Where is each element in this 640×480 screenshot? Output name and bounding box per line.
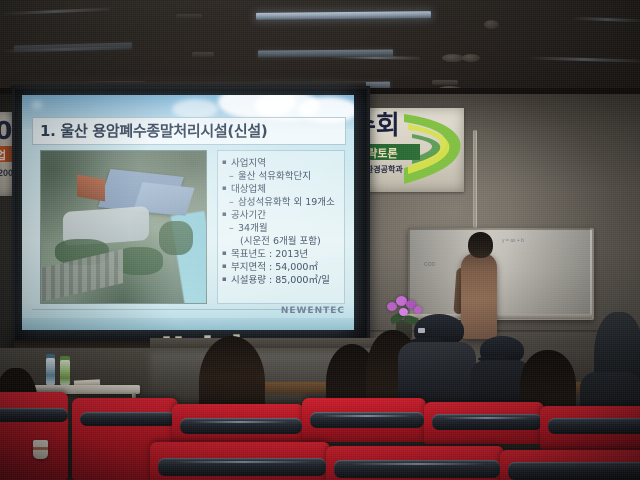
seat-top-rail <box>508 462 640 480</box>
list-item: 목표년도 : 2013년 <box>218 248 342 261</box>
ceiling-speaker-icon <box>442 54 464 62</box>
slide-vendor-logo: NEWENTEC <box>281 306 345 316</box>
slide-bottom-band <box>22 318 354 330</box>
list-item: 34개월 <box>218 222 342 235</box>
list-item: (시운전 6개월 포함) <box>218 235 342 248</box>
seat-top-rail <box>0 408 68 422</box>
presenter-body <box>461 253 497 339</box>
list-item: 삼성석유화학 외 19개소 <box>218 196 342 209</box>
slide-bullet-list: 사업지역 울산 석유화학단지 대상업체 삼성석유화학 외 19개소 공사기간 3… <box>217 150 345 304</box>
projected-slide: 1. 울산 용암폐수종말처리시설(신설) 사업지역 울산 석유화학단지 대상업체… <box>22 95 354 330</box>
auditorium-seat <box>0 392 68 480</box>
orchid-bloom <box>399 308 408 316</box>
whiteboard-shadow <box>408 228 590 316</box>
ceiling-speaker-icon <box>462 54 480 62</box>
ceiling-light-fixture <box>14 42 132 52</box>
presenter-head <box>468 232 493 258</box>
ceiling-light-fixture <box>256 11 431 20</box>
orchid-bloom <box>387 302 397 311</box>
seat-top-rail <box>548 418 640 434</box>
banner-hanging-rail <box>473 130 477 228</box>
slide-facility-rendering <box>40 150 207 304</box>
green-tea-bottle <box>60 360 70 386</box>
paper-cup-band <box>33 447 48 450</box>
list-item: 대상업체 <box>218 183 342 196</box>
ceiling-light-fixture <box>258 50 393 58</box>
banner-left-highlight-label: 업 <box>0 147 6 163</box>
list-item: 공사기간 <box>218 209 342 222</box>
lecture-hall-photo: 00 업 2009. 수회 공전략토론 학교 환경공학과 <box>0 0 640 480</box>
rendering-building-wall <box>77 175 105 202</box>
projector-hotspot <box>32 101 42 109</box>
seat-top-rail <box>80 412 176 426</box>
slide-title-box: 1. 울산 용암폐수종말처리시설(신설) <box>32 117 346 145</box>
slide-title: 1. 울산 용암폐수종말처리시설(신설) <box>40 120 268 141</box>
list-item: 부지면적 : 54,000㎡ <box>218 261 342 274</box>
list-item: 울산 석유화학단지 <box>218 170 342 183</box>
water-bottle <box>46 358 55 386</box>
list-item: 사업지역 <box>218 157 342 170</box>
list-item: 시설용량 : 85,000㎥/일 <box>218 274 342 287</box>
cap-logo <box>418 328 425 333</box>
ceiling-speaker-icon <box>484 20 499 29</box>
orchid-bloom <box>414 306 422 314</box>
